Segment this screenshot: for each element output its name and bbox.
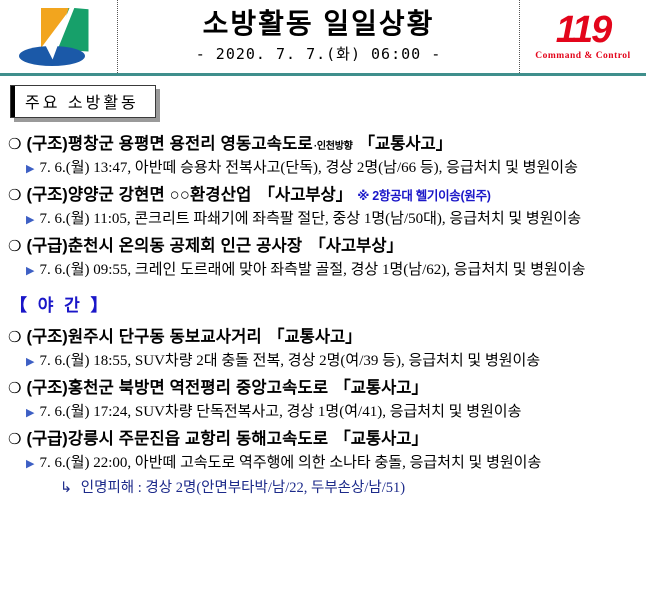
document-datetime: - 2020. 7. 7.(화) 06:00 -	[196, 43, 442, 64]
incident-detail: ▶ 7. 6.(월) 11:05, 콘크리트 파쇄기에 좌측팔 절단, 중상 1…	[8, 208, 640, 231]
incident-place: 강릉시 주문진읍 교항리 동해고속도로	[68, 427, 328, 452]
triangle-bullet-icon: ▶	[26, 353, 34, 370]
119-logo-icon: 119 Command & Control	[535, 11, 630, 62]
ring-bullet-icon: ❍	[8, 326, 21, 349]
document-header: 소방활동 일일상황 - 2020. 7. 7.(화) 06:00 - 119 C…	[0, 0, 646, 76]
119-tagline: Command & Control	[535, 52, 630, 62]
incident-detail-text: 7. 6.(월) 09:55, 크레인 도르래에 맞아 좌측발 골절, 경상 1…	[39, 259, 585, 282]
corner-arrow-icon: ↳	[60, 480, 72, 496]
incident-heading: ❍ (구급) 강릉시 주문진읍 교항리 동해고속도로 「교통사고」	[8, 427, 640, 452]
header-right-logo-cell: 119 Command & Control	[520, 0, 646, 73]
incident-heading: ❍ (구조) 홍천군 북방면 역전평리 중앙고속도로 「교통사고」	[8, 376, 640, 401]
list-item: ❍ (구급) 강릉시 주문진읍 교항리 동해고속도로 「교통사고」 ▶ 7. 6…	[8, 427, 640, 497]
night-section-heading: 【 야 간 】	[10, 291, 640, 316]
document-title: 소방활동 일일상황	[203, 9, 435, 38]
section-heading: 주요 소방활동	[10, 85, 156, 118]
incident-heading: ❍ (구조) 원주시 단구동 동보교사거리 「교통사고」	[8, 325, 640, 350]
incident-category: 「교통사고」	[334, 376, 428, 401]
incident-place: 홍천군 북방면 역전평리 중앙고속도로	[68, 376, 328, 401]
119-digits: 119	[535, 11, 630, 49]
list-item: ❍ (구조) 양양군 강현면 ○○환경산업 「사고부상」 ※ 2항공대 헬기이송…	[8, 183, 640, 231]
incident-detail-text: 7. 6.(월) 11:05, 콘크리트 파쇄기에 좌측팔 절단, 중상 1명(…	[39, 208, 581, 231]
list-item: ❍ (구급) 춘천시 온의동 공제회 인근 공사장 「사고부상」 ▶ 7. 6.…	[8, 234, 640, 282]
ring-bullet-icon: ❍	[8, 428, 21, 451]
incident-heading: ❍ (구조) 평창군 용평면 용전리 영동고속도로 ·인천방향 「교통사고」	[8, 132, 640, 157]
incident-type: (구조)	[26, 132, 67, 157]
incident-detail-text: 7. 6.(월) 13:47, 아반떼 승용차 전복사고(단독), 경상 2명(…	[39, 157, 577, 180]
ring-bullet-icon: ❍	[8, 377, 21, 400]
triangle-bullet-icon: ▶	[26, 404, 34, 421]
incident-category: 「사고부상」	[309, 234, 403, 259]
triangle-bullet-icon: ▶	[26, 455, 34, 472]
section-heading-bar	[11, 86, 15, 117]
incident-blue-note: ※ 2항공대 헬기이송(원주)	[357, 187, 490, 206]
incident-category: 「사고부상」	[259, 183, 353, 208]
incident-direction-note: ·인천방향	[314, 139, 353, 154]
incident-place: 양양군 강현면 ○○환경산업	[68, 183, 252, 208]
incident-place: 춘천시 온의동 공제회 인근 공사장	[68, 234, 302, 259]
incident-type: (구조)	[26, 183, 67, 208]
incident-detail-text: 7. 6.(월) 18:55, SUV차량 2대 충돌 전복, 경상 2명(여/…	[39, 350, 540, 373]
incident-detail: ▶ 7. 6.(월) 13:47, 아반떼 승용차 전복사고(단독), 경상 2…	[8, 157, 640, 180]
incident-detail: ▶ 7. 6.(월) 17:24, SUV차량 단독전복사고, 경상 1명(여/…	[8, 401, 640, 424]
section-heading-box: 주요 소방활동	[10, 85, 156, 118]
incident-heading: ❍ (구조) 양양군 강현면 ○○환경산업 「사고부상」 ※ 2항공대 헬기이송…	[8, 183, 640, 208]
incident-detail: ▶ 7. 6.(월) 09:55, 크레인 도르래에 맞아 좌측발 골절, 경상…	[8, 259, 640, 282]
incident-detail-text: 7. 6.(월) 17:24, SUV차량 단독전복사고, 경상 1명(여/41…	[39, 401, 521, 424]
ring-bullet-icon: ❍	[8, 184, 21, 207]
list-item: ❍ (구조) 홍천군 북방면 역전평리 중앙고속도로 「교통사고」 ▶ 7. 6…	[8, 376, 640, 424]
incident-type: (구조)	[26, 376, 67, 401]
triangle-bullet-icon: ▶	[26, 211, 34, 228]
ring-bullet-icon: ❍	[8, 133, 21, 156]
incident-detail: ▶ 7. 6.(월) 18:55, SUV차량 2대 충돌 전복, 경상 2명(…	[8, 350, 640, 373]
incident-detail-text: 7. 6.(월) 22:00, 아반떼 고속도로 역주행에 의한 소나타 충돌,…	[39, 452, 541, 475]
casualty-sub-note: ↳ 인명피해 : 경상 2명(안면부타박/남/22, 두부손상/남/51)	[8, 476, 640, 497]
incident-place: 평창군 용평면 용전리 영동고속도로	[68, 132, 313, 157]
incident-place: 원주시 단구동 동보교사거리	[68, 325, 262, 350]
ring-bullet-icon: ❍	[8, 235, 21, 258]
triangle-bullet-icon: ▶	[26, 262, 34, 279]
header-left-logo-cell	[0, 0, 118, 73]
list-item: ❍ (구조) 원주시 단구동 동보교사거리 「교통사고」 ▶ 7. 6.(월) …	[8, 325, 640, 373]
casualty-sub-note-text: 인명피해 : 경상 2명(안면부타박/남/22, 두부손상/남/51)	[81, 480, 405, 496]
incident-category: 「교통사고」	[268, 325, 362, 350]
incident-type: (구급)	[26, 427, 67, 452]
incident-category: 「교통사고」	[359, 132, 453, 157]
incident-type: (구조)	[26, 325, 67, 350]
incident-heading: ❍ (구급) 춘천시 온의동 공제회 인근 공사장 「사고부상」	[8, 234, 640, 259]
incident-detail: ▶ 7. 6.(월) 22:00, 아반떼 고속도로 역주행에 의한 소나타 충…	[8, 452, 640, 475]
incident-category: 「교통사고」	[334, 427, 428, 452]
incident-type: (구급)	[26, 234, 67, 259]
incident-list: ❍ (구조) 평창군 용평면 용전리 영동고속도로 ·인천방향 「교통사고」 ▶…	[0, 118, 646, 497]
triangle-bullet-icon: ▶	[26, 160, 34, 177]
gangwon-province-emblem-icon	[15, 6, 103, 68]
list-item: ❍ (구조) 평창군 용평면 용전리 영동고속도로 ·인천방향 「교통사고」 ▶…	[8, 132, 640, 180]
section-heading-label: 주요 소방활동	[25, 95, 139, 112]
header-title-cell: 소방활동 일일상황 - 2020. 7. 7.(화) 06:00 -	[118, 0, 520, 73]
